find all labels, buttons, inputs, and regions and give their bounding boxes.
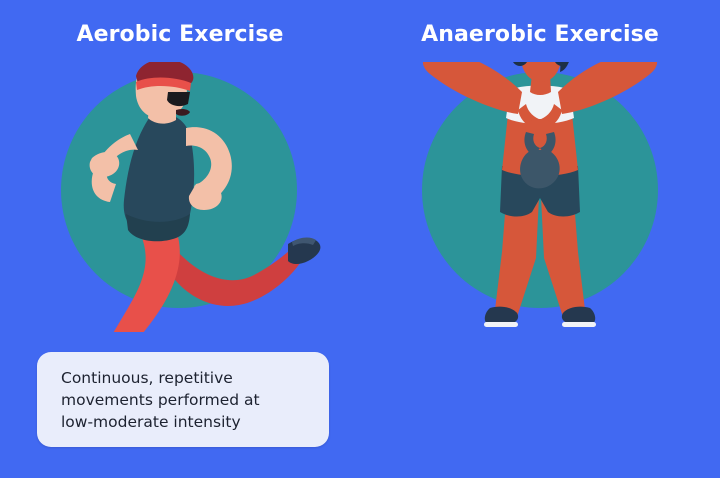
lifter-left-shoe-sole [484, 322, 518, 327]
lifter-right-shoe-sole [562, 322, 596, 327]
runner-illustration [0, 62, 360, 332]
panel-aerobic: Aerobic Exercise [0, 0, 360, 478]
caption-box-aerobic: Continuous, repetitive movements perform… [37, 352, 329, 447]
panel-title-aerobic: Aerobic Exercise [0, 22, 360, 47]
infographic-canvas: Aerobic Exercise [0, 0, 720, 478]
kettlebell-lifter-illustration [360, 62, 720, 332]
panel-title-anaerobic: Anaerobic Exercise [360, 22, 720, 47]
caption-text-aerobic: Continuous, repetitive movements perform… [61, 367, 260, 433]
panel-anaerobic: Anaerobic Exercise [360, 0, 720, 478]
